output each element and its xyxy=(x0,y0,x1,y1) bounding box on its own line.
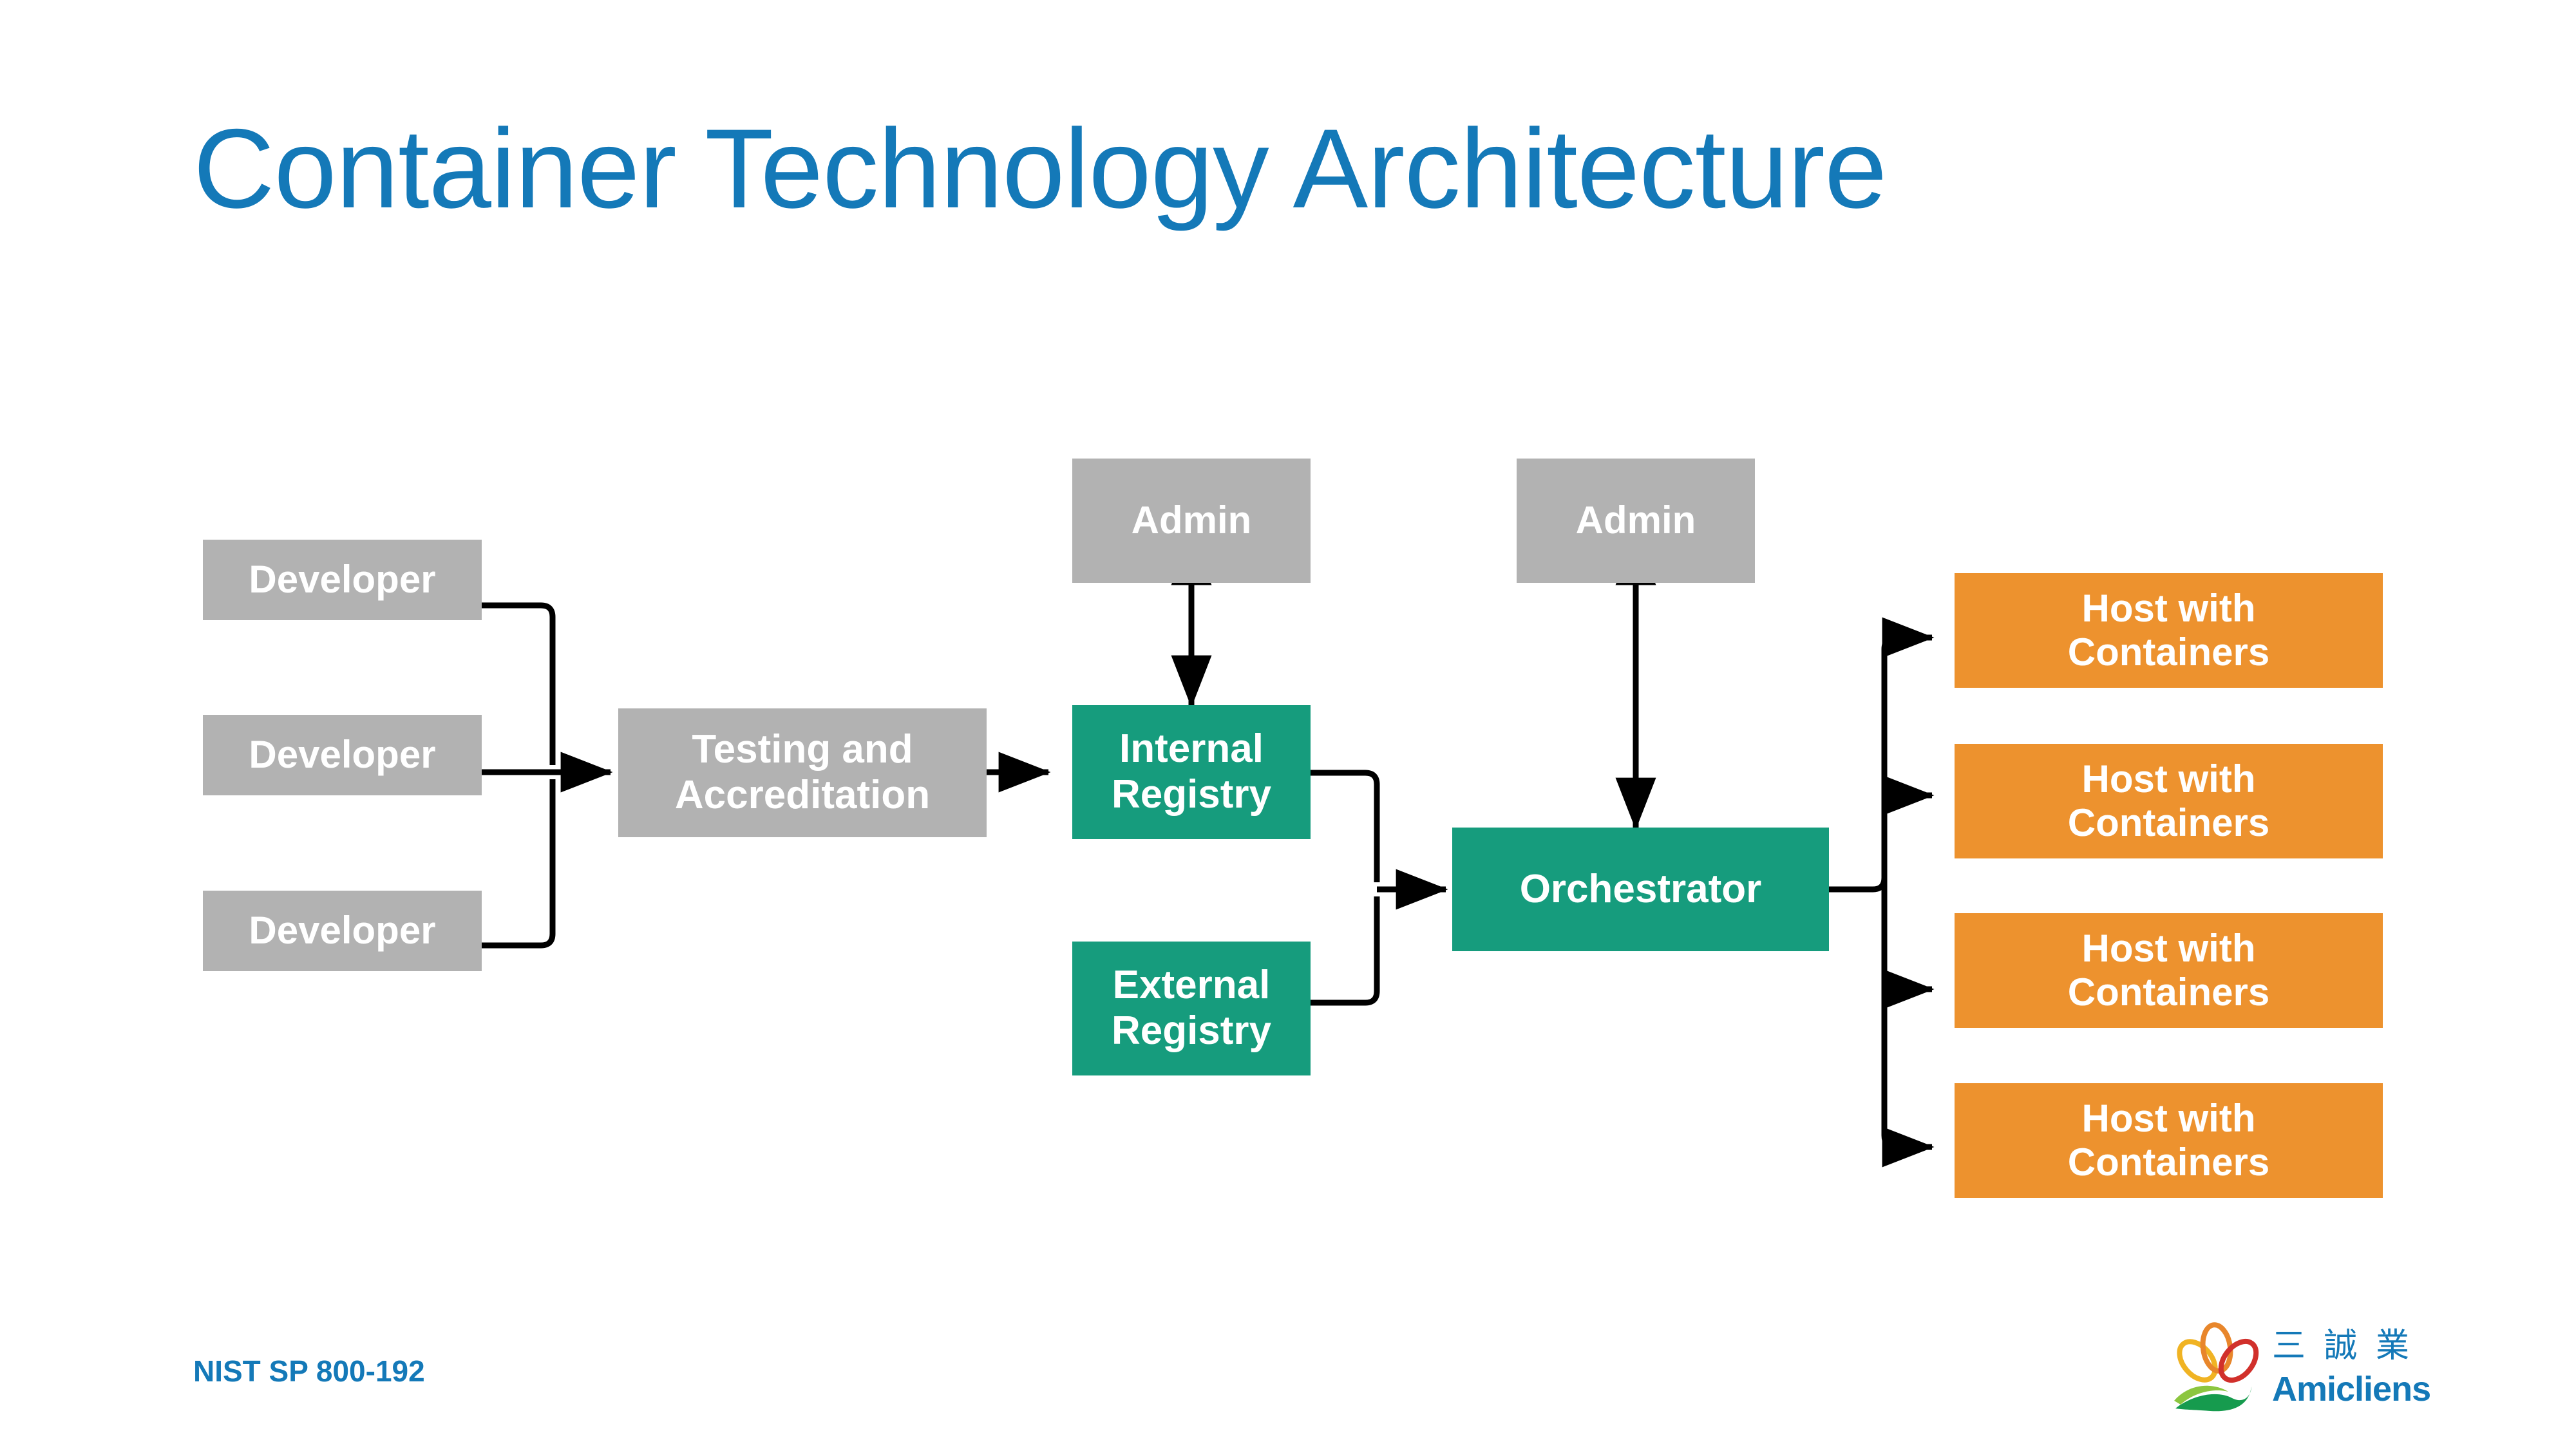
node-host-3-line1: Host with xyxy=(2082,927,2256,971)
node-host-3-line2: Containers xyxy=(2068,971,2269,1014)
node-developer-1[interactable]: Developer xyxy=(203,540,482,620)
node-admin-orchestrator[interactable]: Admin xyxy=(1517,459,1755,583)
node-developer-3[interactable]: Developer xyxy=(203,891,482,971)
connector-orchestrator-to-host4 xyxy=(1884,889,1932,1147)
node-host-2-line2: Containers xyxy=(2068,801,2269,845)
node-external-registry-line1: External xyxy=(1113,963,1271,1009)
connector-developer3-to-testing xyxy=(482,779,553,945)
node-testing-line1: Testing and xyxy=(692,727,913,773)
connector-developer1-to-testing xyxy=(482,605,553,765)
node-host-3[interactable]: Host with Containers xyxy=(1955,913,2383,1028)
node-host-1-line2: Containers xyxy=(2068,630,2269,674)
node-internal-registry-line1: Internal xyxy=(1119,726,1264,772)
architecture-diagram: Developer Developer Developer Testing an… xyxy=(0,0,2576,1449)
logo-swoosh-icon xyxy=(2174,1386,2251,1411)
node-developer-2-label: Developer xyxy=(249,733,435,777)
node-host-2-line1: Host with xyxy=(2082,757,2256,801)
node-internal-registry-line2: Registry xyxy=(1112,772,1271,818)
node-host-4[interactable]: Host with Containers xyxy=(1955,1083,2383,1198)
node-testing-and-accreditation[interactable]: Testing and Accreditation xyxy=(618,708,987,837)
connector-internal-registry-to-orchestrator xyxy=(1307,773,1377,882)
node-developer-1-label: Developer xyxy=(249,558,435,601)
connector-orchestrator-trunk xyxy=(1829,638,1932,889)
node-host-1[interactable]: Host with Containers xyxy=(1955,573,2383,688)
connector-orchestrator-to-host2 xyxy=(1884,795,1932,889)
node-host-1-line1: Host with xyxy=(2082,587,2256,630)
logo-wordmark: Amicliens xyxy=(2272,1370,2430,1408)
node-host-4-line2: Containers xyxy=(2068,1141,2269,1184)
logo-petals-icon xyxy=(2172,1323,2263,1387)
node-host-2[interactable]: Host with Containers xyxy=(1955,744,2383,858)
node-developer-3-label: Developer xyxy=(249,909,435,952)
node-external-registry-line2: Registry xyxy=(1112,1009,1271,1054)
node-admin-registry[interactable]: Admin xyxy=(1072,459,1311,583)
node-internal-registry[interactable]: Internal Registry xyxy=(1072,705,1311,839)
amicliens-logo: 三 誠 業 Amicliens xyxy=(2164,1311,2434,1417)
node-admin-registry-label: Admin xyxy=(1132,498,1252,542)
node-external-registry[interactable]: External Registry xyxy=(1072,942,1311,1075)
node-developer-2[interactable]: Developer xyxy=(203,715,482,795)
node-testing-line2: Accreditation xyxy=(675,773,930,819)
node-orchestrator[interactable]: Orchestrator xyxy=(1452,828,1829,951)
node-host-4-line1: Host with xyxy=(2082,1097,2256,1141)
connector-external-registry-to-orchestrator xyxy=(1307,896,1377,1003)
node-orchestrator-label: Orchestrator xyxy=(1520,867,1762,913)
logo-chinese-name: 三 誠 業 xyxy=(2272,1327,2413,1365)
node-admin-orchestrator-label: Admin xyxy=(1576,498,1696,542)
footer-reference: NIST SP 800-192 xyxy=(193,1354,425,1388)
connector-orchestrator-to-host3 xyxy=(1884,889,1932,989)
